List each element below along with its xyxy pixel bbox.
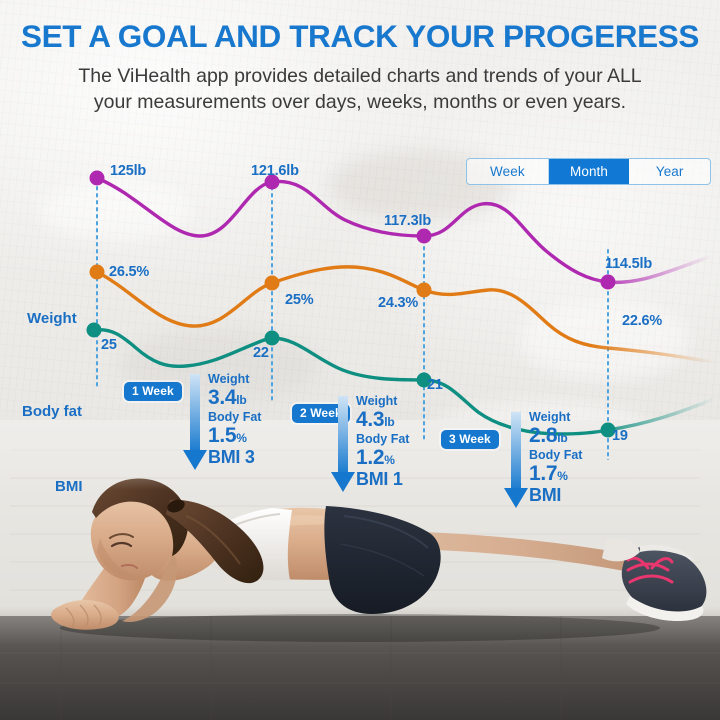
series-label-weight: Weight — [27, 310, 77, 327]
bodyfat-delta-1: 1.5 — [208, 424, 236, 447]
page-title: SET A GOAL AND TRACK YOUR PROGERESS — [0, 0, 720, 53]
bmi-value-2: 22 — [253, 345, 269, 361]
annotation-stats-2: Weight 4.3lb Body Fat 1.2% BMI 1 — [356, 394, 409, 489]
annotation-badge-1: 1 Week — [124, 382, 182, 401]
down-arrow-icon-1 — [182, 374, 208, 472]
bmi-caption-3: BMI — [529, 485, 561, 505]
page-subtitle: The ViHealth app provides detailed chart… — [40, 63, 680, 115]
range-toggle[interactable]: Week Month Year — [466, 158, 711, 185]
weight-delta-3: 2.8 — [529, 424, 557, 447]
header: SET A GOAL AND TRACK YOUR PROGERESS The … — [0, 0, 720, 115]
body-fat-value-1: 26.5% — [109, 264, 149, 280]
weight-value-2: 121.6lb — [251, 163, 299, 179]
weight-delta-1: 3.4 — [208, 386, 236, 409]
weight-value-1: 125lb — [110, 163, 146, 179]
bodyfat-delta-unit-3: % — [557, 469, 567, 483]
bodyfat-delta-unit-1: % — [236, 431, 246, 445]
weight-delta-2: 4.3 — [356, 408, 384, 431]
weight-value-3: 117.3lb — [384, 213, 431, 229]
bmi-delta-2: 1 — [393, 469, 403, 489]
range-option-week[interactable]: Week — [467, 159, 548, 184]
bmi-delta-1: 3 — [245, 447, 255, 467]
weight-markers — [90, 171, 616, 290]
subtitle-line-2: your measurements over days, weeks, mont… — [40, 89, 680, 115]
weight-caption-3: Weight — [529, 410, 582, 424]
annotation-stats-1: Weight 3.4lb Body Fat 1.5% BMI 3 — [208, 372, 261, 467]
range-option-month[interactable]: Month — [548, 159, 630, 184]
down-arrow-icon-3 — [503, 412, 529, 510]
annotation-badge-3: 3 Week — [441, 430, 499, 449]
series-label-body-fat: Body fat — [22, 403, 82, 420]
weight-value-4: 114.5lb — [605, 256, 652, 272]
body-fat-value-2: 25% — [285, 292, 313, 308]
bodyfat-delta-3: 1.7 — [529, 462, 557, 485]
weight-delta-unit-2: lb — [384, 415, 394, 429]
bmi-caption-1: BMI — [208, 447, 240, 467]
body-fat-value-3: 24.3% — [378, 295, 418, 311]
down-arrow-icon-2 — [330, 396, 356, 494]
bmi-value-3: 21 — [427, 377, 443, 393]
bmi-value-1: 25 — [101, 337, 117, 353]
promo-graphic: SET A GOAL AND TRACK YOUR PROGERESS The … — [0, 0, 720, 720]
bodyfat-delta-unit-2: % — [384, 453, 394, 467]
weight-caption-2: Weight — [356, 394, 409, 408]
body-fat-value-4: 22.6% — [622, 313, 662, 329]
bodyfat-caption-1: Body Fat — [208, 410, 261, 424]
range-option-year[interactable]: Year — [629, 159, 710, 184]
series-label-bmi: BMI — [55, 478, 83, 495]
weight-delta-unit-3: lb — [557, 431, 567, 445]
bodyfat-caption-2: Body Fat — [356, 432, 409, 446]
bodyfat-delta-2: 1.2 — [356, 446, 384, 469]
bodyfat-caption-3: Body Fat — [529, 448, 582, 462]
annotation-stats-3: Weight 2.8lb Body Fat 1.7% BMI — [529, 410, 582, 505]
bmi-value-4: 19 — [612, 428, 628, 444]
bmi-caption-2: BMI — [356, 469, 388, 489]
weight-delta-unit-1: lb — [236, 393, 246, 407]
subtitle-line-1: The ViHealth app provides detailed chart… — [40, 63, 680, 89]
weight-caption-1: Weight — [208, 372, 261, 386]
